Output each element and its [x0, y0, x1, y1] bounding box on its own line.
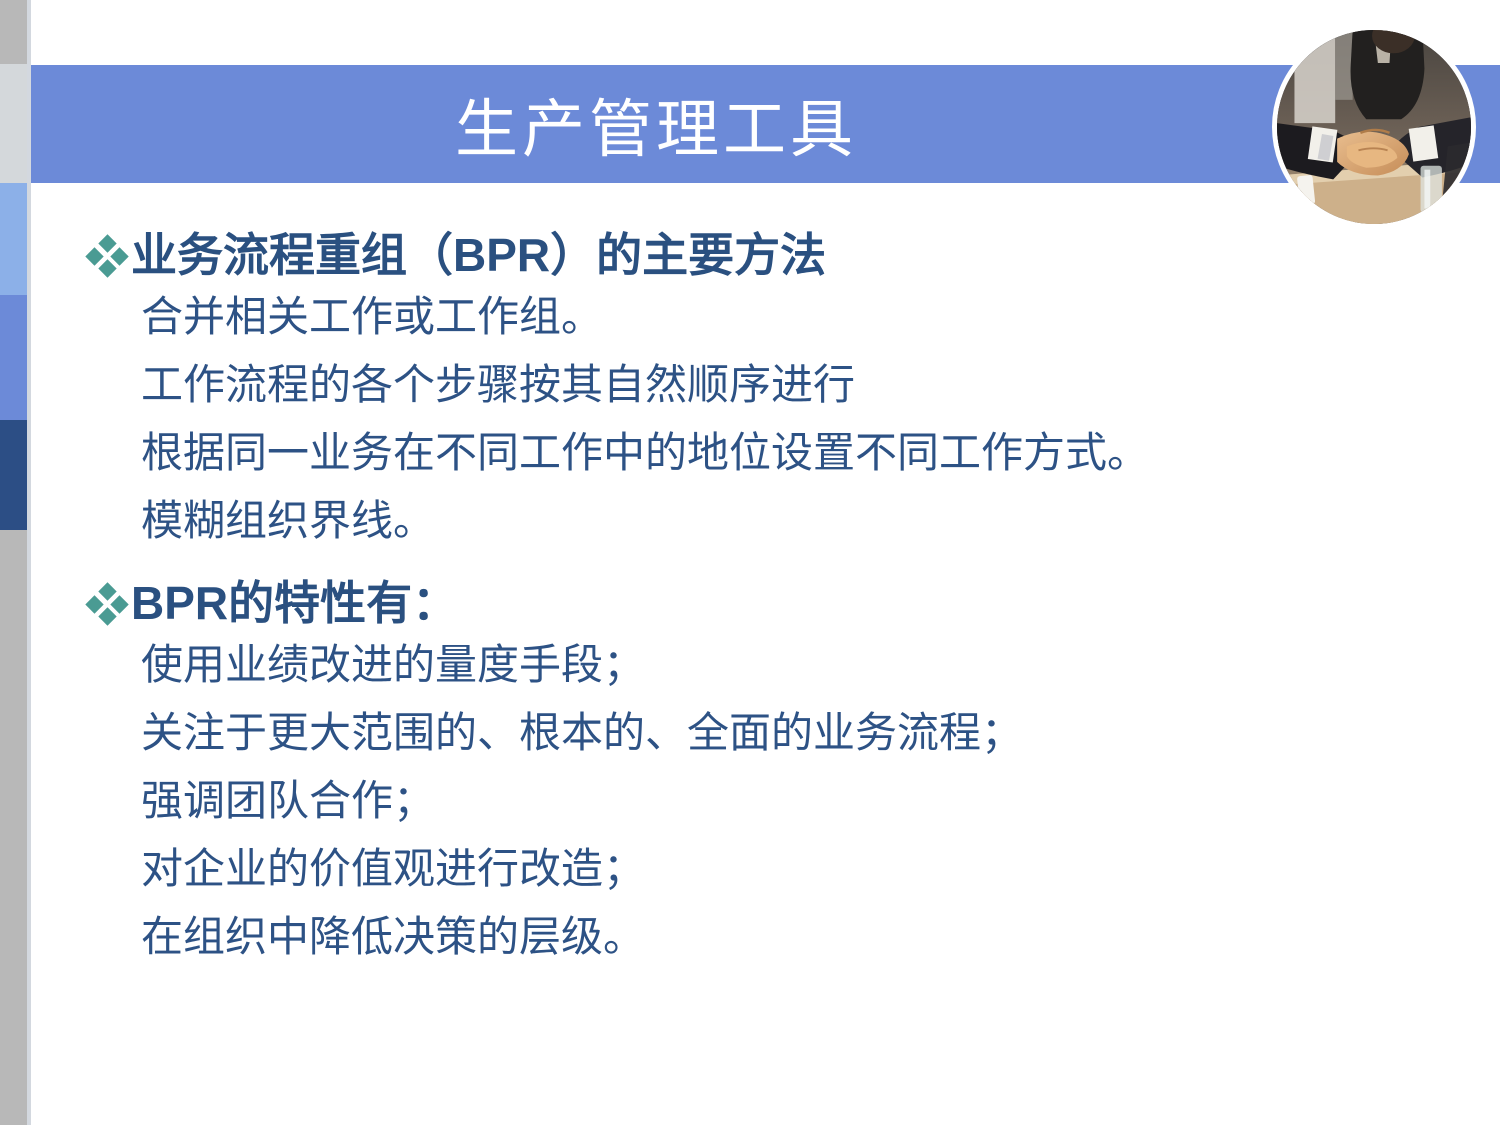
list-item-text: 合并相关工作或工作组。	[141, 290, 603, 348]
square-bullet-icon	[85, 312, 141, 330]
list-item-text: 使用业绩改进的量度手段；	[141, 638, 645, 696]
handshake-photo-graphic	[1277, 30, 1471, 224]
rail-segment-light-blue	[0, 183, 27, 295]
rail-segment-light-gray	[0, 64, 27, 183]
square-bullet-icon	[85, 728, 141, 746]
presentation-slide: 生产管理工具	[0, 0, 1500, 1125]
list-item: 对企业的价值观进行改造；	[85, 842, 1475, 900]
rail-segment-gray-bottom	[0, 530, 27, 1125]
list-item-text: 根据同一业务在不同工作中的地位设置不同工作方式。	[141, 426, 1149, 484]
square-bullet-icon	[85, 448, 141, 466]
list-item: 合并相关工作或工作组。	[85, 290, 1475, 348]
list-item: 关注于更大范围的、根本的、全面的业务流程；	[85, 706, 1475, 764]
left-decorative-rail	[0, 0, 31, 1125]
list-item: 根据同一业务在不同工作中的地位设置不同工作方式。	[85, 426, 1475, 484]
square-bullet-icon	[85, 932, 141, 950]
list-item: 强调团队合作；	[85, 774, 1475, 832]
rail-segment-gray-top	[0, 0, 27, 64]
section-1-bullet-list: 合并相关工作或工作组。 工作流程的各个步骤按其自然顺序进行 根据同一业务在不同工…	[85, 290, 1475, 552]
list-item-text: 对企业的价值观进行改造；	[141, 842, 645, 900]
square-bullet-icon	[85, 796, 141, 814]
square-bullet-icon	[85, 864, 141, 882]
list-item: 使用业绩改进的量度手段；	[85, 638, 1475, 696]
section-heading-1-text: 业务流程重组（BPR）的主要方法	[131, 228, 826, 282]
list-item-text: 关注于更大范围的、根本的、全面的业务流程；	[141, 706, 1023, 764]
list-item: 在组织中降低决策的层级。	[85, 910, 1475, 968]
rail-segment-mid-blue	[0, 295, 27, 420]
diamond-cluster-icon	[85, 234, 131, 290]
handshake-photo	[1272, 25, 1476, 229]
list-item-text: 模糊组织界线。	[141, 494, 435, 552]
rail-segment-dark-blue	[0, 420, 27, 530]
list-item-text: 强调团队合作；	[141, 774, 435, 832]
section-2-bullet-list: 使用业绩改进的量度手段； 关注于更大范围的、根本的、全面的业务流程； 强调团队合…	[85, 638, 1475, 968]
page-title: 生产管理工具	[31, 65, 1281, 183]
slide-body: 业务流程重组（BPR）的主要方法 合并相关工作或工作组。 工作流程的各个步骤按其…	[85, 228, 1475, 978]
square-bullet-icon	[85, 380, 141, 398]
list-item: 模糊组织界线。	[85, 494, 1475, 552]
section-divider-space	[85, 562, 1475, 576]
square-bullet-icon	[85, 660, 141, 678]
list-item-text: 在组织中降低决策的层级。	[141, 910, 645, 968]
diamond-cluster-icon	[85, 582, 131, 638]
square-bullet-icon	[85, 516, 141, 534]
section-heading-2-text: BPR的特性有：	[131, 576, 458, 630]
list-item: 工作流程的各个步骤按其自然顺序进行	[85, 358, 1475, 416]
section-heading-2: BPR的特性有：	[85, 576, 1475, 632]
list-item-text: 工作流程的各个步骤按其自然顺序进行	[141, 358, 855, 416]
section-heading-1: 业务流程重组（BPR）的主要方法	[85, 228, 1475, 284]
